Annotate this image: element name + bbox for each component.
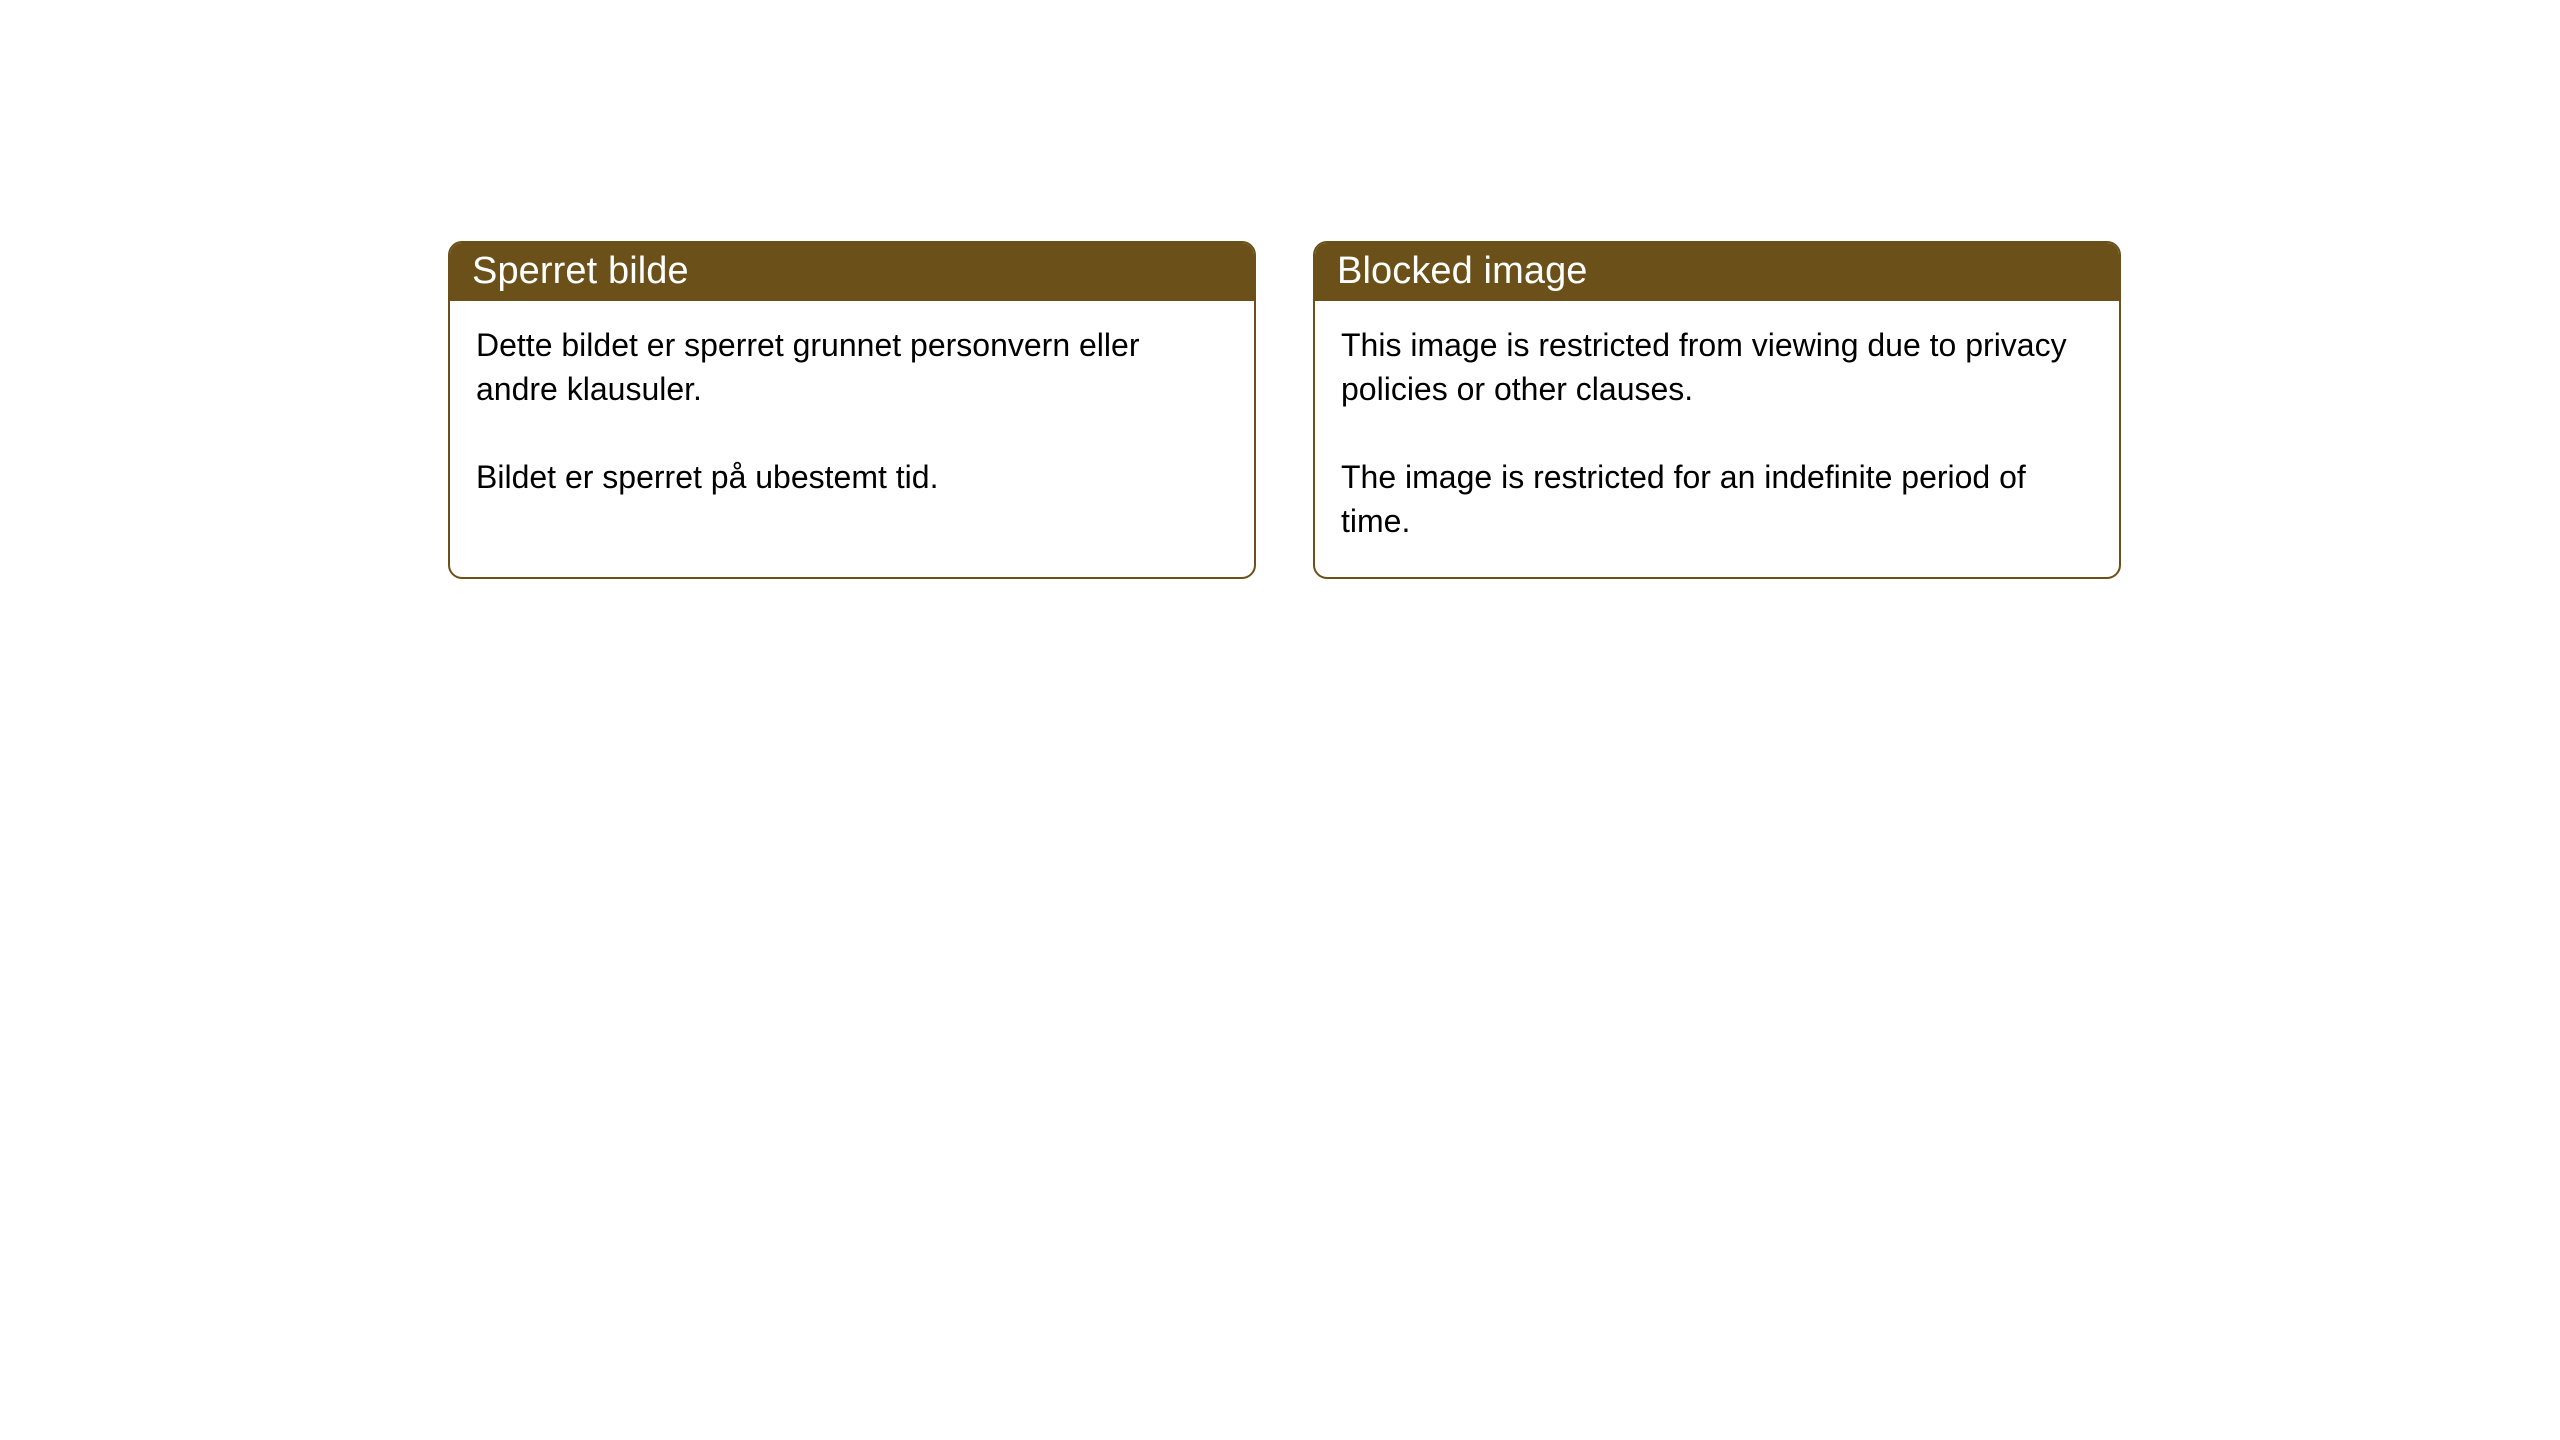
paragraph-spacer — [476, 411, 1228, 455]
notice-title-english: Blocked image — [1337, 252, 1588, 290]
notice-body-norwegian: Dette bildet er sperret grunnet personve… — [450, 301, 1254, 499]
notice-paragraph-duration-norwegian: Bildet er sperret på ubestemt tid. — [476, 455, 1216, 499]
blocked-image-notice-english: Blocked image This image is restricted f… — [1313, 241, 2121, 579]
notice-header-english: Blocked image — [1313, 241, 2121, 301]
blocked-image-notice-norwegian: Sperret bilde Dette bildet er sperret gr… — [448, 241, 1256, 579]
notice-paragraph-duration-english: The image is restricted for an indefinit… — [1341, 455, 2081, 543]
page-canvas: Sperret bilde Dette bildet er sperret gr… — [0, 0, 2560, 1440]
notice-paragraph-reason-norwegian: Dette bildet er sperret grunnet personve… — [476, 323, 1216, 411]
notice-title-norwegian: Sperret bilde — [472, 252, 689, 290]
notice-body-english: This image is restricted from viewing du… — [1315, 301, 2119, 543]
paragraph-spacer — [1341, 411, 2093, 455]
notice-paragraph-reason-english: This image is restricted from viewing du… — [1341, 323, 2081, 411]
notice-header-norwegian: Sperret bilde — [448, 241, 1256, 301]
